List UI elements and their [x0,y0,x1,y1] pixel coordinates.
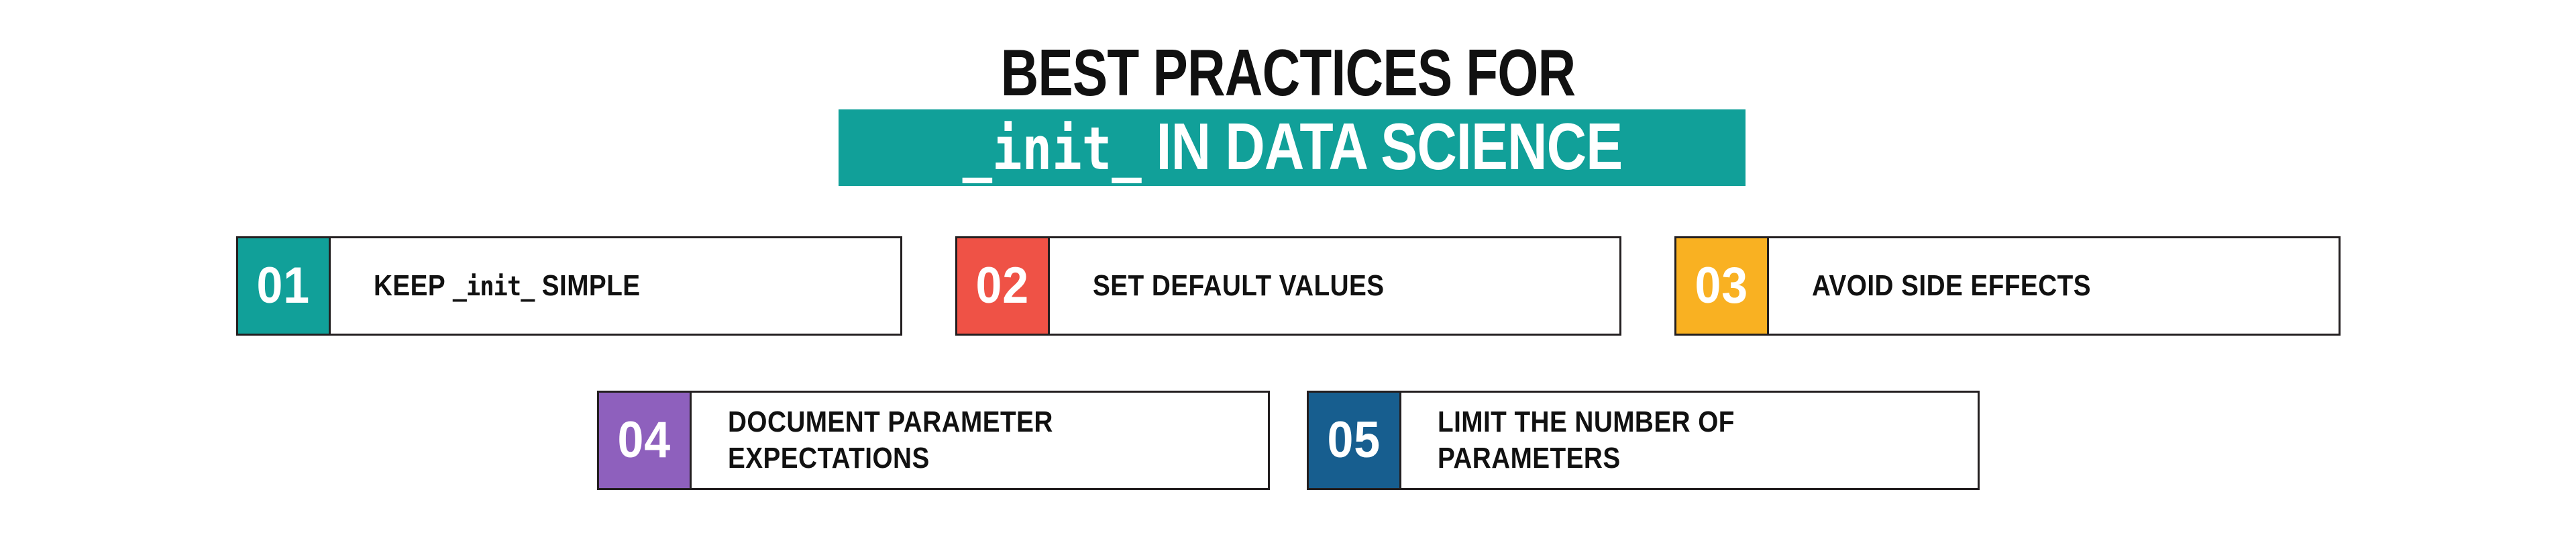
card-number-label: 03 [1695,260,1748,311]
card-label-text: SET DEFAULT VALUES [1093,268,1385,304]
practice-card-row-2: 04 DOCUMENT PARAMETER EXPECTATIONS 05 LI… [0,391,2576,490]
practice-card-04[interactable]: 04 DOCUMENT PARAMETER EXPECTATIONS [597,391,1270,490]
title-banner: _init_ IN DATA SCIENCE [839,109,1746,186]
card-label-prefix: KEEP [374,269,453,302]
card-label-text: AVOID SIDE EFFECTS [1812,268,2091,304]
page-title-line-1: BEST PRACTICES FOR [258,38,2318,107]
card-number-label: 01 [256,260,310,311]
practice-card-02[interactable]: 02 SET DEFAULT VALUES [955,236,1621,336]
infographic-header: BEST PRACTICES FOR _init_ IN DATA SCIENC… [0,0,2576,201]
card-number-block-05: 05 [1309,393,1401,488]
page-title-line-2: IN DATA SCIENCE [1156,113,1622,180]
practice-card-05[interactable]: 05 LIMIT THE NUMBER OF PARAMETERS [1307,391,1980,490]
card-number-block-01: 01 [238,238,331,334]
card-label-suffix: SIMPLE [534,269,640,302]
card-label-text: KEEP _init_ SIMPLE [374,268,641,305]
title-init-token: _init_ [962,115,1141,183]
card-label-area-03: AVOID SIDE EFFECTS [1769,238,2339,334]
card-number-label: 05 [1327,415,1381,466]
card-number-label: 02 [975,260,1029,311]
card-number-block-02: 02 [957,238,1050,334]
card-label-init-token: _init_ [452,271,534,302]
card-number-label: 04 [617,415,671,466]
card-label-area-01: KEEP _init_ SIMPLE [331,238,900,334]
practice-card-row-1: 01 KEEP _init_ SIMPLE 02 SET DEFAULT VAL… [0,236,2576,336]
card-label-area-05: LIMIT THE NUMBER OF PARAMETERS [1401,393,1978,488]
card-number-block-03: 03 [1676,238,1769,334]
practice-card-03[interactable]: 03 AVOID SIDE EFFECTS [1674,236,2341,336]
practice-card-01[interactable]: 01 KEEP _init_ SIMPLE [236,236,902,336]
card-number-block-04: 04 [599,393,692,488]
card-label-text: LIMIT THE NUMBER OF PARAMETERS [1438,404,1735,477]
title-banner-inner: _init_ IN DATA SCIENCE [962,113,1622,183]
card-label-area-02: SET DEFAULT VALUES [1050,238,1619,334]
card-label-area-04: DOCUMENT PARAMETER EXPECTATIONS [692,393,1268,488]
card-label-text: DOCUMENT PARAMETER EXPECTATIONS [728,404,1053,477]
